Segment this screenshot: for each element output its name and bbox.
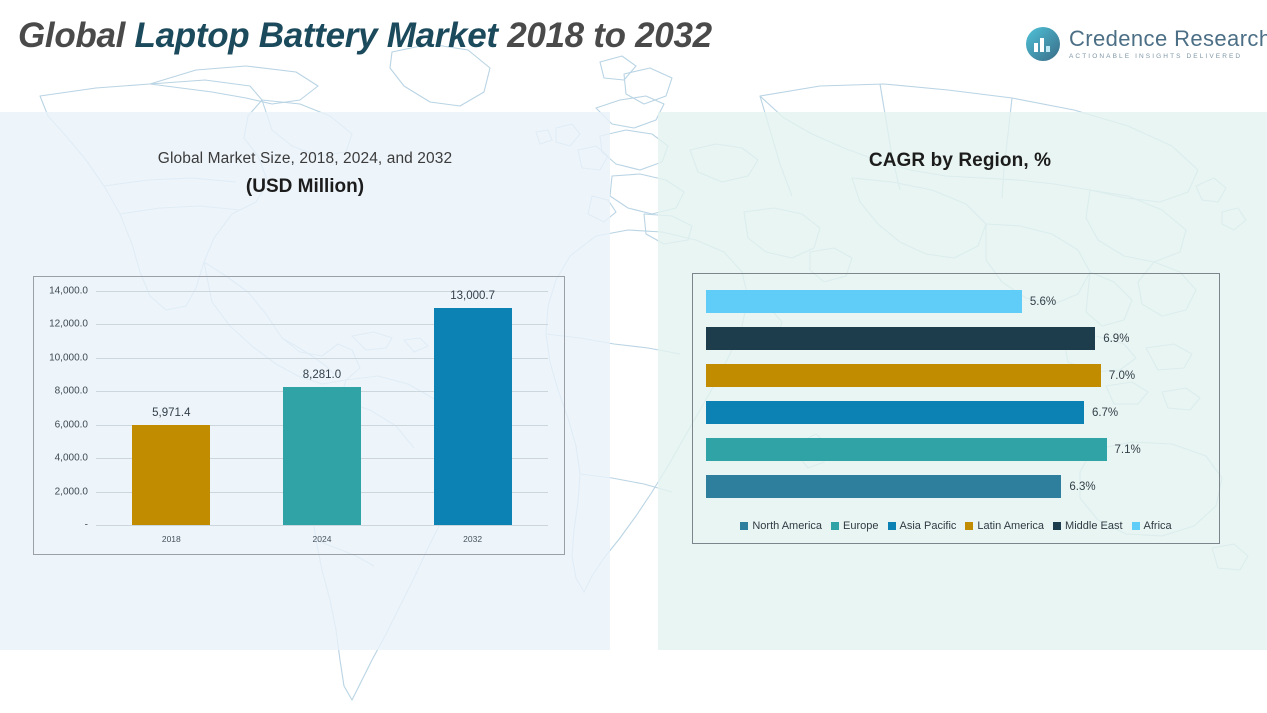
bar-row: 6.3% <box>706 475 1146 498</box>
header: Global Laptop Battery Market 2018 to 203… <box>0 0 1267 112</box>
legend-swatch <box>1132 522 1140 530</box>
legend-label: Europe <box>843 520 878 532</box>
page-title-part1: Global <box>18 16 135 55</box>
global-market-size-chart: -2,000.04,000.06,000.08,000.010,000.012,… <box>33 276 565 555</box>
logo-tagline: Actionable Insights Delivered <box>1069 54 1267 61</box>
legend-swatch <box>888 522 896 530</box>
bar-value-label: 6.3% <box>1069 481 1095 493</box>
horizontal-bar[interactable] <box>706 438 1107 461</box>
legend-item[interactable]: Europe <box>831 520 878 532</box>
legend-swatch <box>1053 522 1061 530</box>
y-axis-tick-label: 10,000.0 <box>49 352 88 363</box>
bar-row: 6.7% <box>706 401 1146 424</box>
x-axis-category-label: 2024 <box>313 534 332 544</box>
legend-item[interactable]: Latin America <box>965 520 1044 532</box>
horizontal-bar[interactable] <box>706 327 1095 350</box>
column-value-label: 8,281.0 <box>303 369 341 381</box>
page-title: Global Laptop Battery Market 2018 to 203… <box>18 16 712 56</box>
column-slot: 13,000.72032 <box>397 291 548 525</box>
column-value-label: 5,971.4 <box>152 407 190 419</box>
bar-value-label: 7.0% <box>1109 370 1135 382</box>
right-chart-heading: CAGR by Region, % <box>700 150 1220 172</box>
legend-label: North America <box>752 520 822 532</box>
legend-item[interactable]: Middle East <box>1053 520 1122 532</box>
x-axis-category-label: 2032 <box>463 534 482 544</box>
column-slot: 8,281.02024 <box>247 291 398 525</box>
y-axis-tick-label: 12,000.0 <box>49 319 88 330</box>
bar-value-label: 7.1% <box>1115 444 1141 456</box>
column-bar[interactable]: 5,971.42018 <box>132 425 210 525</box>
bar-row: 5.6% <box>706 290 1146 313</box>
column-slot: 5,971.42018 <box>96 291 247 525</box>
page-title-part2: 2018 to 2032 <box>507 16 712 55</box>
y-axis-tick-label: 2,000.0 <box>55 486 88 497</box>
gridline: - <box>96 525 548 526</box>
column-bar[interactable]: 8,281.02024 <box>283 387 361 525</box>
logo-company-name: Credence Research <box>1069 28 1267 50</box>
bar-row: 7.1% <box>706 438 1146 461</box>
credence-research-logo: Credence Research Actionable Insights De… <box>1026 27 1267 61</box>
left-chart-heading: Global Market Size, 2018, 2024, and 2032… <box>60 150 550 198</box>
bar-row: 6.9% <box>706 327 1146 350</box>
horizontal-bar[interactable] <box>706 475 1061 498</box>
legend-item[interactable]: Africa <box>1132 520 1172 532</box>
left-chart-subtitle: (USD Million) <box>60 176 550 198</box>
cagr-by-region-chart: 5.6%6.9%7.0%6.7%7.1%6.3% North AmericaEu… <box>692 273 1220 544</box>
legend-item[interactable]: Asia Pacific <box>888 520 957 532</box>
page-title-accent: Laptop Battery Market <box>135 16 508 55</box>
chart-legend: North AmericaEuropeAsia PacificLatin Ame… <box>693 520 1219 532</box>
horizontal-bar[interactable] <box>706 401 1084 424</box>
bar-row: 7.0% <box>706 364 1146 387</box>
bar-chart-plot-area: 5.6%6.9%7.0%6.7%7.1%6.3% <box>706 290 1146 502</box>
infographic-root: Global Laptop Battery Market 2018 to 203… <box>0 0 1267 713</box>
legend-label: Asia Pacific <box>900 520 957 532</box>
legend-swatch <box>965 522 973 530</box>
logo-bars <box>1034 38 1050 52</box>
y-axis-tick-label: 4,000.0 <box>55 453 88 464</box>
horizontal-bar[interactable] <box>706 364 1101 387</box>
horizontal-bar[interactable] <box>706 290 1022 313</box>
legend-swatch <box>740 522 748 530</box>
column-value-label: 13,000.7 <box>450 290 495 302</box>
bar-value-label: 6.9% <box>1103 333 1129 345</box>
bar-value-label: 6.7% <box>1092 407 1118 419</box>
y-axis-tick-label: 6,000.0 <box>55 419 88 430</box>
column-bar[interactable]: 13,000.72032 <box>434 308 512 525</box>
legend-swatch <box>831 522 839 530</box>
bar-value-label: 5.6% <box>1030 296 1056 308</box>
legend-item[interactable]: North America <box>740 520 822 532</box>
column-chart-plot-area: -2,000.04,000.06,000.08,000.010,000.012,… <box>96 291 548 525</box>
y-axis-tick-label: 14,000.0 <box>49 286 88 297</box>
bar-chart-logo-icon <box>1026 27 1060 61</box>
legend-label: Latin America <box>977 520 1044 532</box>
legend-label: Middle East <box>1065 520 1122 532</box>
logo-text: Credence Research Actionable Insights De… <box>1069 28 1267 61</box>
x-axis-category-label: 2018 <box>162 534 181 544</box>
y-axis-tick-label: - <box>85 520 88 531</box>
left-chart-title: Global Market Size, 2018, 2024, and 2032 <box>60 150 550 168</box>
legend-label: Africa <box>1144 520 1172 532</box>
y-axis-tick-label: 8,000.0 <box>55 386 88 397</box>
right-chart-title: CAGR by Region, % <box>700 150 1220 172</box>
